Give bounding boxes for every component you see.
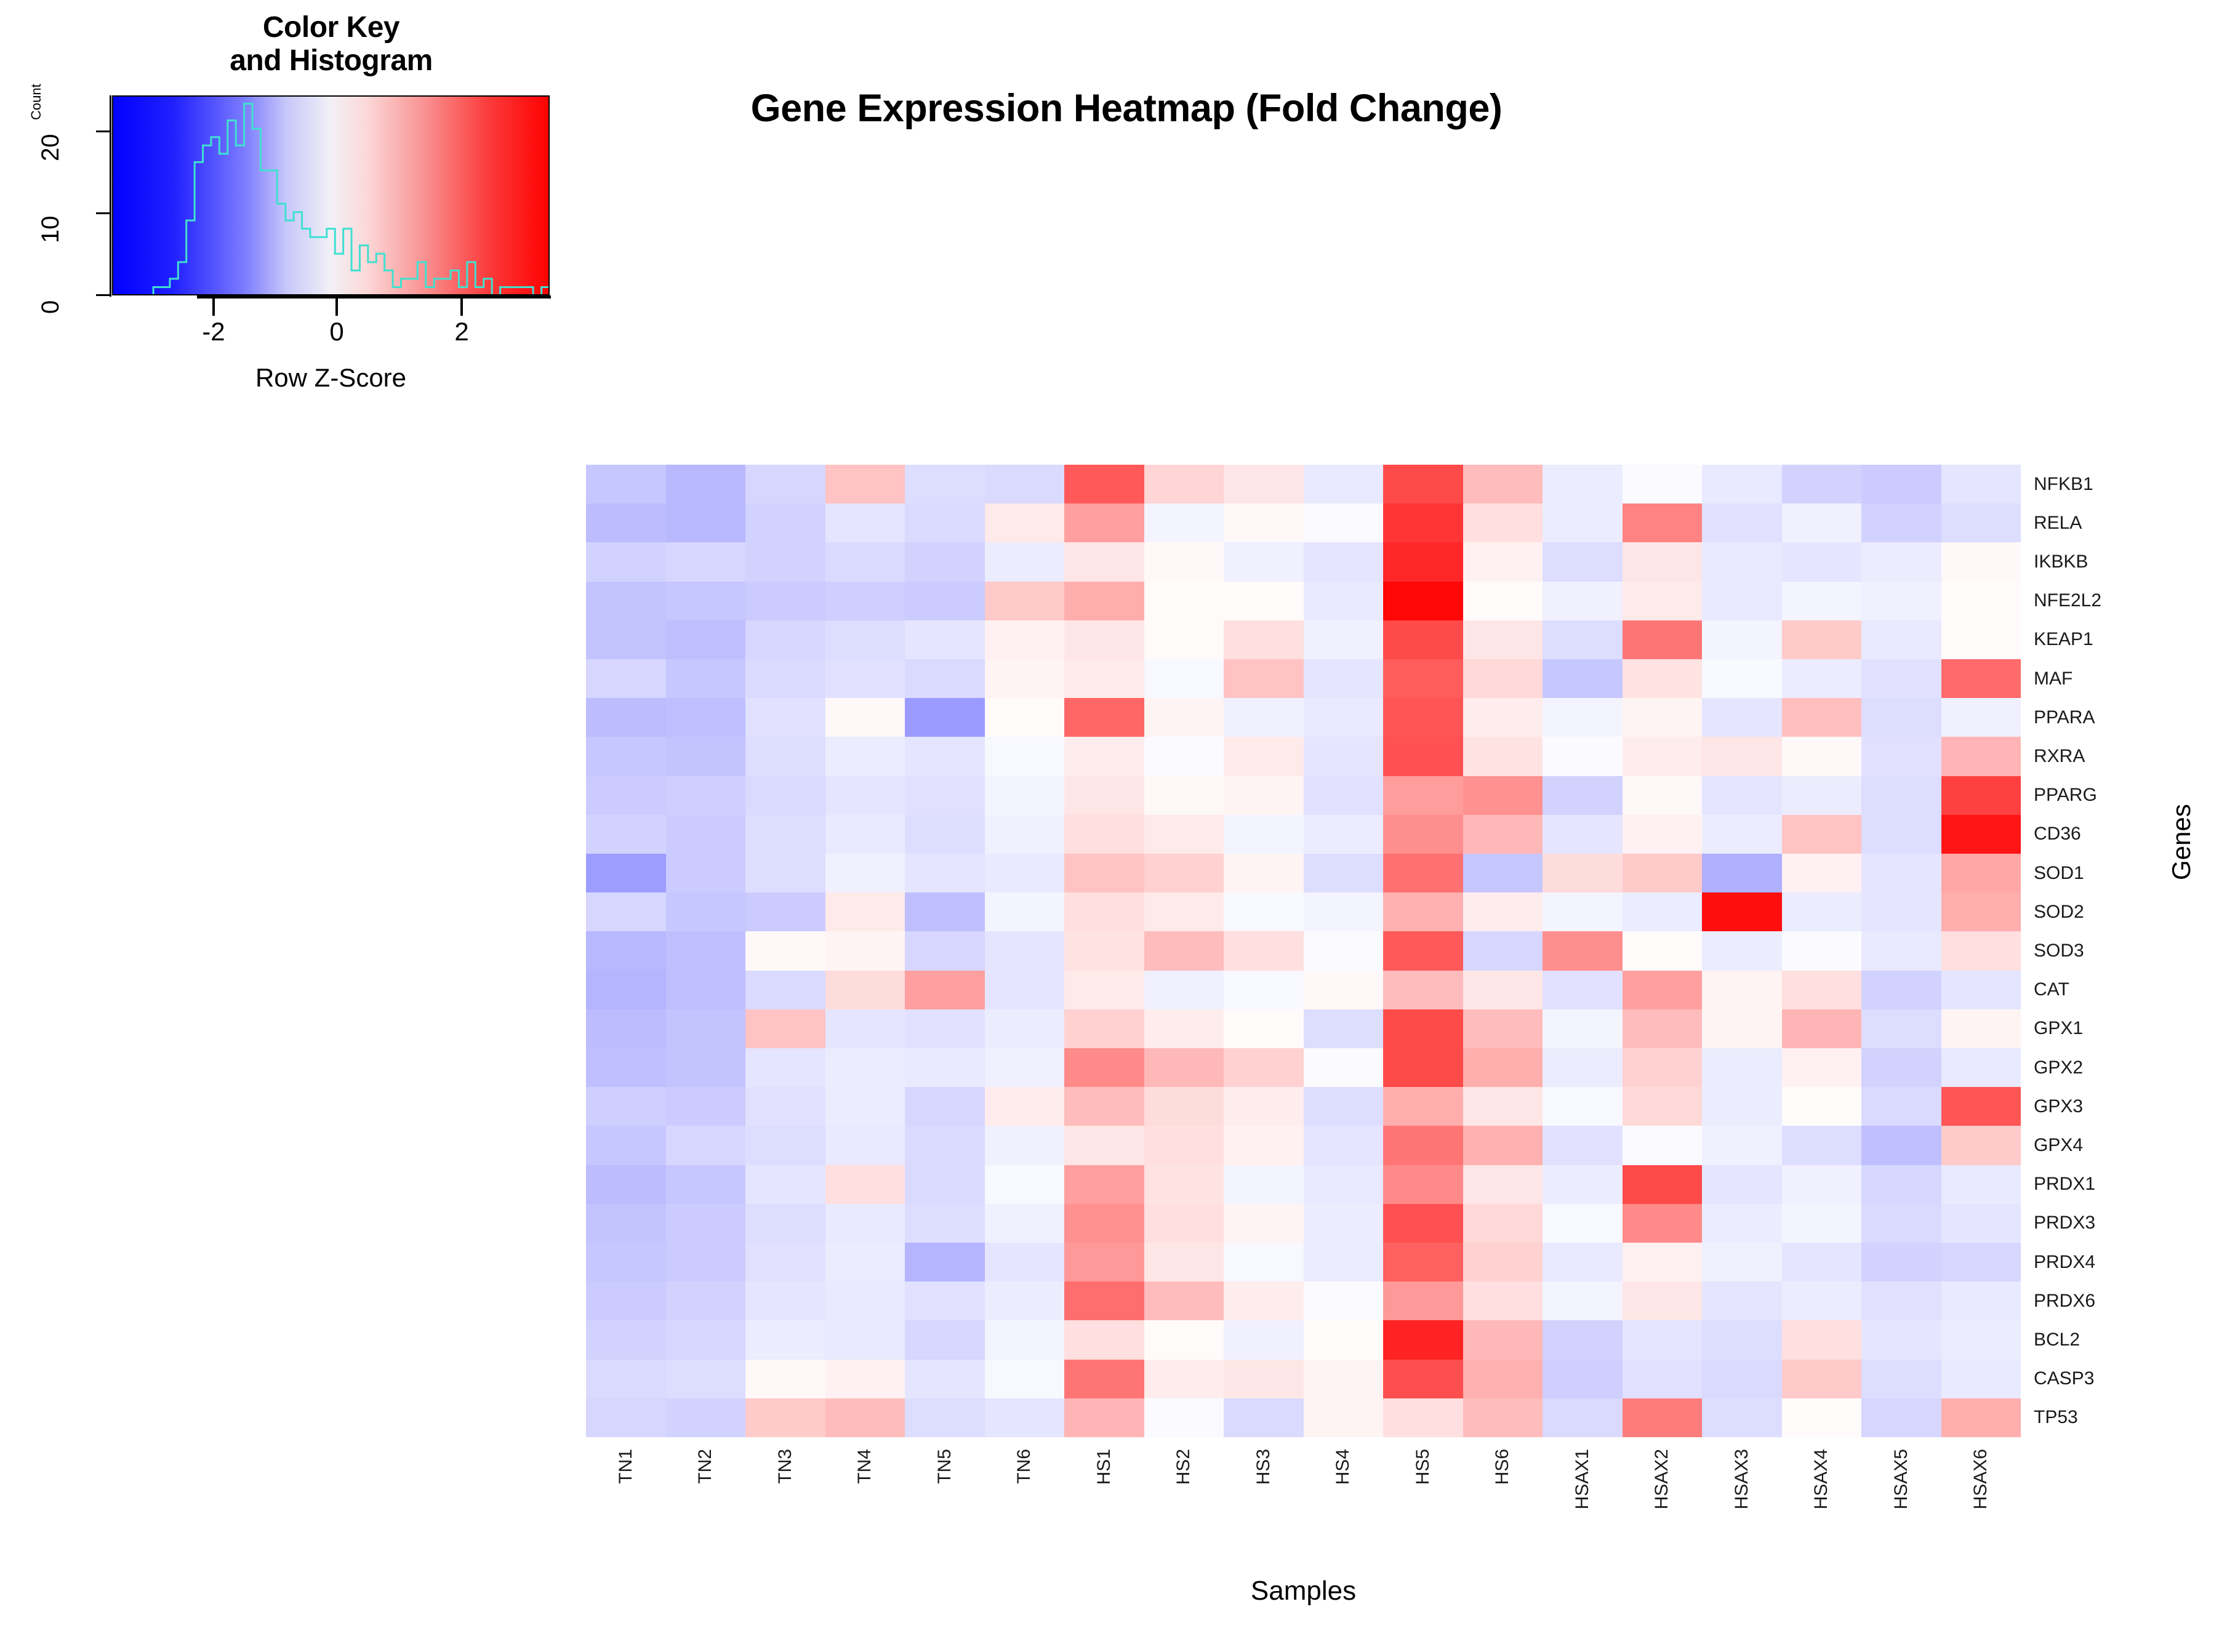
sample-label-slot: HSAX3 bbox=[1702, 1446, 1782, 1588]
heatmap-cell bbox=[1861, 1398, 1941, 1437]
heatmap-cell bbox=[1941, 620, 2021, 659]
heatmap-cell bbox=[1463, 620, 1543, 659]
heatmap-cell bbox=[666, 1320, 746, 1359]
gene-label: PRDX3 bbox=[2031, 1204, 2204, 1243]
heatmap-cell bbox=[905, 542, 985, 581]
heatmap-cell bbox=[825, 503, 905, 542]
heatmap-cell bbox=[1383, 1165, 1463, 1204]
heatmap-cell bbox=[1702, 1320, 1782, 1359]
heatmap-cell bbox=[1463, 854, 1543, 892]
gene-label: SOD3 bbox=[2031, 931, 2204, 970]
heatmap-cell bbox=[666, 815, 746, 854]
heatmap-cell bbox=[1064, 1360, 1144, 1398]
heatmap-cell bbox=[1702, 931, 1782, 970]
heatmap-cell bbox=[1941, 1087, 2021, 1126]
heatmap-cell bbox=[1144, 776, 1224, 815]
heatmap-cell bbox=[1702, 1048, 1782, 1087]
heatmap-cell bbox=[1383, 815, 1463, 854]
heatmap-cell bbox=[1304, 1087, 1384, 1126]
heatmap-cell bbox=[586, 620, 666, 659]
heatmap-cell bbox=[985, 620, 1065, 659]
heatmap-cell bbox=[825, 1398, 905, 1437]
heatmap-cell bbox=[1702, 542, 1782, 581]
heatmap-cell bbox=[905, 1243, 985, 1281]
heatmap-cell bbox=[825, 659, 905, 698]
heatmap-cell bbox=[1702, 1087, 1782, 1126]
sample-label: HSAX5 bbox=[1891, 1449, 1912, 1509]
heatmap-cell bbox=[1941, 1048, 2021, 1087]
heatmap-cell bbox=[1623, 815, 1703, 854]
heatmap-cell bbox=[1224, 971, 1304, 1009]
gene-label: SOD2 bbox=[2031, 892, 2204, 931]
heatmap-cell bbox=[586, 1320, 666, 1359]
heatmap-cell bbox=[1702, 776, 1782, 815]
heatmap-cell bbox=[1861, 659, 1941, 698]
gene-label: BCL2 bbox=[2031, 1320, 2204, 1359]
heatmap-cell bbox=[1224, 465, 1304, 503]
heatmap-cell bbox=[905, 1048, 985, 1087]
gene-label: RELA bbox=[2031, 503, 2204, 542]
heatmap-cell bbox=[1623, 582, 1703, 620]
heatmap-cell bbox=[1144, 1126, 1224, 1165]
heatmap-cell bbox=[666, 931, 746, 970]
heatmap-cell bbox=[1941, 1009, 2021, 1048]
heatmap-cell bbox=[586, 1398, 666, 1437]
heatmap-cell bbox=[586, 582, 666, 620]
heatmap-cell bbox=[1383, 582, 1463, 620]
heatmap-cell bbox=[825, 1126, 905, 1165]
heatmap-cell bbox=[1224, 1320, 1304, 1359]
color-key-title-line2: and Histogram bbox=[230, 44, 433, 77]
gene-label: RXRA bbox=[2031, 737, 2204, 776]
heatmap-cell bbox=[1941, 971, 2021, 1009]
heatmap-cell bbox=[825, 1243, 905, 1281]
heatmap-cell bbox=[1861, 931, 1941, 970]
heatmap-cell bbox=[905, 1165, 985, 1204]
heatmap-cell bbox=[1304, 503, 1384, 542]
heatmap-cell bbox=[1702, 1281, 1782, 1320]
heatmap-cell bbox=[1064, 503, 1144, 542]
color-key-ytick-label-20: 20 bbox=[37, 134, 65, 162]
heatmap-cell bbox=[985, 1398, 1065, 1437]
heatmap-cell bbox=[1224, 776, 1304, 815]
heatmap-cell bbox=[1224, 737, 1304, 776]
heatmap-cell bbox=[1623, 1243, 1703, 1281]
gene-label: TP53 bbox=[2031, 1398, 2204, 1437]
heatmap-cell bbox=[1064, 776, 1144, 815]
heatmap-cell bbox=[1383, 1320, 1463, 1359]
heatmap-cell bbox=[1623, 1009, 1703, 1048]
sample-label-slot: HS3 bbox=[1224, 1446, 1304, 1588]
sample-label-slot: HSAX2 bbox=[1623, 1446, 1703, 1588]
heatmap-cell bbox=[1064, 1281, 1144, 1320]
heatmap-cell bbox=[1144, 931, 1224, 970]
heatmap-cell bbox=[745, 776, 825, 815]
heatmap-cell bbox=[745, 659, 825, 698]
heatmap-cell bbox=[1543, 1243, 1623, 1281]
heatmap-cell bbox=[1064, 931, 1144, 970]
heatmap-cell bbox=[745, 542, 825, 581]
heatmap-cell bbox=[1782, 1009, 1862, 1048]
heatmap-cell bbox=[1463, 737, 1543, 776]
heatmap-cell bbox=[1304, 854, 1384, 892]
heatmap-cell bbox=[1782, 542, 1862, 581]
heatmap-cell bbox=[1702, 1165, 1782, 1204]
heatmap-cell bbox=[1782, 465, 1862, 503]
heatmap-cell bbox=[985, 1204, 1065, 1243]
heatmap-cell bbox=[1224, 659, 1304, 698]
heatmap-cell bbox=[1224, 1281, 1304, 1320]
heatmap-cell bbox=[1224, 1204, 1304, 1243]
heatmap-cell bbox=[1304, 1243, 1384, 1281]
heatmap-cell bbox=[1702, 1009, 1782, 1048]
heatmap-cell bbox=[985, 1281, 1065, 1320]
heatmap-cell bbox=[666, 776, 746, 815]
heatmap-cell bbox=[1383, 1204, 1463, 1243]
heatmap-cell bbox=[666, 582, 746, 620]
heatmap-cell bbox=[1861, 737, 1941, 776]
heatmap-cell bbox=[1623, 1398, 1703, 1437]
heatmap-cell bbox=[1702, 1243, 1782, 1281]
sample-label: HSAX6 bbox=[1970, 1449, 1991, 1509]
heatmap-cell bbox=[1941, 659, 2021, 698]
heatmap-cell bbox=[1144, 465, 1224, 503]
heatmap-cell bbox=[1304, 1398, 1384, 1437]
heatmap-cell bbox=[1782, 503, 1862, 542]
heatmap-cell bbox=[825, 892, 905, 931]
color-key-y-axis-label: Count bbox=[28, 84, 44, 120]
heatmap-cell bbox=[1941, 1165, 2021, 1204]
heatmap-cell bbox=[1463, 1009, 1543, 1048]
heatmap-cell bbox=[1304, 465, 1384, 503]
heatmap-cell bbox=[1463, 971, 1543, 1009]
heatmap-cell bbox=[1463, 1048, 1543, 1087]
heatmap-cell bbox=[1941, 854, 2021, 892]
sample-label-slot: HSAX6 bbox=[1941, 1446, 2021, 1588]
heatmap-cell bbox=[985, 1360, 1065, 1398]
heatmap-cell bbox=[1144, 854, 1224, 892]
heatmap-cell bbox=[1463, 1087, 1543, 1126]
heatmap-cell bbox=[1064, 1398, 1144, 1437]
gene-row-labels: NFKB1RELAIKBKBNFE2L2KEAP1MAFPPARARXRAPPA… bbox=[2031, 465, 2204, 1437]
heatmap-cell bbox=[1941, 776, 2021, 815]
heatmap-cell bbox=[1144, 620, 1224, 659]
heatmap-cell bbox=[1383, 1126, 1463, 1165]
heatmap-cell bbox=[905, 854, 985, 892]
heatmap-cell bbox=[666, 698, 746, 737]
heatmap-cell bbox=[1623, 1320, 1703, 1359]
heatmap-cell bbox=[1304, 971, 1384, 1009]
heatmap-cell bbox=[1782, 1165, 1862, 1204]
heatmap-cell bbox=[985, 698, 1065, 737]
heatmap-cell bbox=[1861, 582, 1941, 620]
heatmap-cell bbox=[586, 1087, 666, 1126]
heatmap-cell bbox=[745, 582, 825, 620]
heatmap-cell bbox=[1304, 1281, 1384, 1320]
heatmap-cell bbox=[1064, 1320, 1144, 1359]
color-key-xtick-label-neg2: -2 bbox=[177, 317, 251, 347]
heatmap-cell bbox=[745, 1087, 825, 1126]
heatmap-cell bbox=[1782, 776, 1862, 815]
heatmap-cell bbox=[905, 737, 985, 776]
heatmap-cell bbox=[985, 503, 1065, 542]
heatmap-cell bbox=[905, 776, 985, 815]
heatmap-cell bbox=[1383, 698, 1463, 737]
heatmap-cell bbox=[1463, 542, 1543, 581]
heatmap-cell bbox=[825, 582, 905, 620]
heatmap-cell bbox=[905, 582, 985, 620]
heatmap-cell bbox=[1224, 1126, 1304, 1165]
heatmap-cell bbox=[1064, 1009, 1144, 1048]
heatmap-cell bbox=[985, 931, 1065, 970]
color-key-xtick-label-0: 0 bbox=[300, 317, 374, 347]
heatmap-cell bbox=[1623, 1087, 1703, 1126]
heatmap bbox=[586, 465, 2021, 1437]
sample-label: HS6 bbox=[1492, 1449, 1513, 1485]
heatmap-cell bbox=[586, 1204, 666, 1243]
heatmap-cell bbox=[1304, 1126, 1384, 1165]
heatmap-cell bbox=[666, 1243, 746, 1281]
heatmap-cell bbox=[905, 892, 985, 931]
heatmap-cell bbox=[1543, 892, 1623, 931]
gene-label: CASP3 bbox=[2031, 1360, 2204, 1398]
heatmap-cell bbox=[825, 776, 905, 815]
heatmap-cell bbox=[905, 620, 985, 659]
y-axis-label: Genes bbox=[2167, 804, 2196, 880]
heatmap-cell bbox=[1623, 1281, 1703, 1320]
sample-label: HSAX3 bbox=[1731, 1449, 1752, 1509]
heatmap-cell bbox=[1463, 1165, 1543, 1204]
heatmap-cell bbox=[586, 854, 666, 892]
heatmap-cell bbox=[1941, 1126, 2021, 1165]
heatmap-cell bbox=[745, 1398, 825, 1437]
color-key-ytick-10 bbox=[96, 212, 110, 214]
heatmap-cell bbox=[1543, 1398, 1623, 1437]
gene-label: CAT bbox=[2031, 971, 2204, 1009]
heatmap-cell bbox=[1383, 737, 1463, 776]
heatmap-cell bbox=[1463, 582, 1543, 620]
heatmap-cell bbox=[825, 1360, 905, 1398]
heatmap-cell bbox=[586, 503, 666, 542]
heatmap-cell bbox=[1224, 1243, 1304, 1281]
heatmap-cell bbox=[586, 971, 666, 1009]
heatmap-cell bbox=[1782, 1126, 1862, 1165]
heatmap-cell bbox=[1144, 1204, 1224, 1243]
heatmap-cell bbox=[1144, 503, 1224, 542]
heatmap-cell bbox=[666, 465, 746, 503]
heatmap-cell bbox=[1623, 737, 1703, 776]
heatmap-cell bbox=[745, 1204, 825, 1243]
heatmap-cell bbox=[1383, 1243, 1463, 1281]
heatmap-cell bbox=[1064, 1165, 1144, 1204]
heatmap-cell bbox=[586, 1281, 666, 1320]
heatmap-cell bbox=[1304, 582, 1384, 620]
heatmap-cell bbox=[586, 737, 666, 776]
heatmap-cell bbox=[1144, 971, 1224, 1009]
heatmap-cell bbox=[905, 1360, 985, 1398]
heatmap-cell bbox=[1782, 698, 1862, 737]
heatmap-cell bbox=[1224, 1087, 1304, 1126]
heatmap-cell bbox=[1941, 1320, 2021, 1359]
heatmap-cell bbox=[1861, 854, 1941, 892]
sample-label-slot: HS1 bbox=[1064, 1446, 1144, 1588]
heatmap-cell bbox=[586, 776, 666, 815]
heatmap-cell bbox=[825, 1048, 905, 1087]
heatmap-cell bbox=[1702, 1126, 1782, 1165]
color-key-ytick-label-10: 10 bbox=[37, 216, 65, 244]
heatmap-cell bbox=[1861, 620, 1941, 659]
heatmap-cell bbox=[1463, 465, 1543, 503]
heatmap-cell bbox=[825, 542, 905, 581]
heatmap-cell bbox=[1702, 620, 1782, 659]
color-key-x-axis-label: Row Z-Score bbox=[112, 363, 550, 393]
heatmap-cell bbox=[1224, 503, 1304, 542]
heatmap-cell bbox=[666, 892, 746, 931]
heatmap-cell bbox=[666, 1165, 746, 1204]
heatmap-cell bbox=[985, 1087, 1065, 1126]
heatmap-cell bbox=[905, 1320, 985, 1359]
heatmap-cell bbox=[1383, 1009, 1463, 1048]
heatmap-cell bbox=[1144, 1360, 1224, 1398]
heatmap-cell bbox=[1941, 931, 2021, 970]
heatmap-cell bbox=[825, 620, 905, 659]
heatmap-cell bbox=[1543, 659, 1623, 698]
heatmap-cell bbox=[666, 1087, 746, 1126]
heatmap-cell bbox=[1383, 854, 1463, 892]
heatmap-cell bbox=[1144, 659, 1224, 698]
heatmap-cell bbox=[586, 1360, 666, 1398]
heatmap-cell bbox=[586, 698, 666, 737]
gene-label: PRDX1 bbox=[2031, 1165, 2204, 1204]
heatmap-cell bbox=[905, 971, 985, 1009]
heatmap-cell bbox=[666, 1281, 746, 1320]
heatmap-cell bbox=[1064, 971, 1144, 1009]
heatmap-cell bbox=[745, 1360, 825, 1398]
heatmap-cell bbox=[1782, 1360, 1862, 1398]
sample-label-slot: TN1 bbox=[586, 1446, 666, 1588]
heatmap-cell bbox=[1702, 1204, 1782, 1243]
heatmap-cell bbox=[1224, 892, 1304, 931]
heatmap-cell bbox=[1623, 1165, 1703, 1204]
heatmap-cell bbox=[1623, 971, 1703, 1009]
heatmap-cell bbox=[1144, 1165, 1224, 1204]
heatmap-cell bbox=[1224, 1048, 1304, 1087]
heatmap-cell bbox=[1064, 1204, 1144, 1243]
heatmap-cell bbox=[745, 971, 825, 1009]
heatmap-cell bbox=[586, 1126, 666, 1165]
heatmap-cell bbox=[1304, 542, 1384, 581]
heatmap-cell bbox=[1463, 776, 1543, 815]
sample-label: HS3 bbox=[1253, 1449, 1274, 1485]
heatmap-cell bbox=[985, 971, 1065, 1009]
heatmap-cell bbox=[1782, 892, 1862, 931]
heatmap-cell bbox=[1702, 698, 1782, 737]
heatmap-cell bbox=[1543, 931, 1623, 970]
heatmap-cell bbox=[905, 931, 985, 970]
heatmap-cell bbox=[985, 737, 1065, 776]
heatmap-cell bbox=[1064, 1243, 1144, 1281]
heatmap-cell bbox=[1941, 465, 2021, 503]
heatmap-cell bbox=[1064, 620, 1144, 659]
heatmap-cell bbox=[666, 971, 746, 1009]
heatmap-cell bbox=[1144, 815, 1224, 854]
heatmap-cell bbox=[586, 659, 666, 698]
heatmap-cell bbox=[1543, 971, 1623, 1009]
heatmap-cell bbox=[745, 620, 825, 659]
heatmap-cell bbox=[1623, 776, 1703, 815]
color-key-border bbox=[112, 95, 550, 295]
heatmap-cell bbox=[1941, 542, 2021, 581]
heatmap-cell bbox=[985, 776, 1065, 815]
heatmap-cell bbox=[1064, 854, 1144, 892]
heatmap-cell bbox=[825, 1087, 905, 1126]
gene-label: KEAP1 bbox=[2031, 620, 2204, 659]
heatmap-cell bbox=[1383, 1281, 1463, 1320]
heatmap-cell bbox=[1861, 698, 1941, 737]
heatmap-cell bbox=[1463, 931, 1543, 970]
color-key-x-axis bbox=[197, 295, 551, 299]
gene-label: PPARA bbox=[2031, 698, 2204, 737]
heatmap-cell bbox=[1861, 1320, 1941, 1359]
sample-label-slot: TN2 bbox=[666, 1446, 746, 1588]
heatmap-cell bbox=[985, 1320, 1065, 1359]
heatmap-cell bbox=[745, 815, 825, 854]
heatmap-cell bbox=[1463, 503, 1543, 542]
color-key-y-axis bbox=[110, 95, 111, 297]
heatmap-cell bbox=[1543, 1320, 1623, 1359]
heatmap-cell bbox=[1861, 542, 1941, 581]
heatmap-cell bbox=[825, 1009, 905, 1048]
heatmap-cell bbox=[1941, 1398, 2021, 1437]
heatmap-cell bbox=[1224, 620, 1304, 659]
heatmap-cell bbox=[1702, 659, 1782, 698]
heatmap-cell bbox=[586, 1009, 666, 1048]
heatmap-cell bbox=[1941, 1243, 2021, 1281]
heatmap-cell bbox=[1623, 659, 1703, 698]
heatmap-cell bbox=[586, 815, 666, 854]
heatmap-cell bbox=[1543, 698, 1623, 737]
heatmap-cell bbox=[1224, 698, 1304, 737]
color-key-ytick-label-0: 0 bbox=[37, 300, 65, 314]
heatmap-cell bbox=[1383, 892, 1463, 931]
sample-label-slot: HS4 bbox=[1304, 1446, 1384, 1588]
heatmap-cell bbox=[905, 1009, 985, 1048]
heatmap-cell bbox=[825, 854, 905, 892]
heatmap-cell bbox=[985, 854, 1065, 892]
heatmap-cell bbox=[1941, 1281, 2021, 1320]
heatmap-cell bbox=[1782, 1048, 1862, 1087]
sample-label-slot: TN6 bbox=[985, 1446, 1065, 1588]
heatmap-cell bbox=[1224, 854, 1304, 892]
heatmap-cell bbox=[1782, 971, 1862, 1009]
heatmap-cell bbox=[745, 1126, 825, 1165]
heatmap-cell bbox=[1304, 620, 1384, 659]
heatmap-cell bbox=[1861, 1243, 1941, 1281]
heatmap-cell bbox=[1782, 582, 1862, 620]
heatmap-cell bbox=[1463, 1204, 1543, 1243]
color-key-title: Color Key and Histogram bbox=[112, 11, 550, 78]
heatmap-cell bbox=[1941, 815, 2021, 854]
heatmap-cell bbox=[745, 931, 825, 970]
heatmap-cell bbox=[666, 1398, 746, 1437]
heatmap-cell bbox=[1064, 815, 1144, 854]
heatmap-cell bbox=[1543, 503, 1623, 542]
heatmap-cell bbox=[1543, 1009, 1623, 1048]
heatmap-cell bbox=[1543, 1126, 1623, 1165]
heatmap-cell bbox=[825, 1165, 905, 1204]
heatmap-cell bbox=[825, 815, 905, 854]
heatmap-cell bbox=[586, 931, 666, 970]
